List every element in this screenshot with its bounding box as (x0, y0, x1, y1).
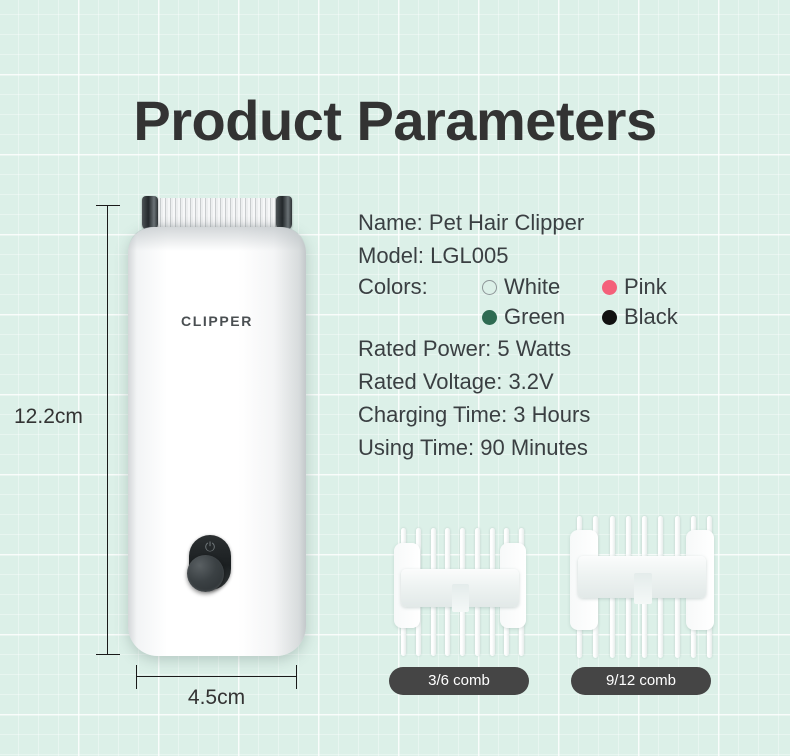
color-option-black: Black (602, 302, 722, 332)
width-dimension-line (136, 676, 297, 677)
color-swatch-grid: White Pink Green Black (482, 272, 722, 332)
spec-name: Name: Pet Hair Clipper (358, 206, 758, 239)
blade-cap-left (142, 196, 158, 230)
width-dimension-label: 4.5cm (136, 686, 297, 710)
clipper-body: CLIPPER ⏻ (128, 227, 306, 656)
color-label-green: Green (504, 302, 565, 332)
spec-using-time: Using Time: 90 Minutes (358, 431, 758, 464)
blade-teeth (153, 198, 281, 230)
color-label-pink: Pink (624, 272, 667, 302)
comb-large-notch (634, 573, 652, 604)
power-button (187, 555, 224, 592)
specification-list: Name: Pet Hair Clipper Model: LGL005 Col… (358, 206, 758, 464)
spec-charging-time: Charging Time: 3 Hours (358, 398, 758, 431)
color-option-white: White (482, 272, 602, 302)
spec-model: Model: LGL005 (358, 239, 758, 272)
color-label-black: Black (624, 302, 678, 332)
color-option-green: Green (482, 302, 602, 332)
comb-attachment-large (572, 516, 712, 658)
swatch-green-icon (482, 310, 497, 325)
blade-cap-right (276, 196, 292, 230)
power-icon: ⏻ (189, 540, 231, 553)
comb-label-large: 9/12 comb (571, 667, 711, 695)
comb-small-notch (452, 584, 469, 612)
spec-colors: Colors: White Pink Green Black (358, 272, 758, 332)
spec-rated-voltage: Rated Voltage: 3.2V (358, 365, 758, 398)
comb-label-small: 3/6 comb (389, 667, 529, 695)
comb-attachment-small (396, 528, 524, 656)
page-title: Product Parameters (0, 87, 790, 155)
color-label-white: White (504, 272, 560, 302)
clipper-brand-text: CLIPPER (128, 313, 306, 329)
product-parameters-page: Product Parameters 12.2cm 4.5cm CLIPPER … (0, 0, 790, 756)
swatch-white-icon (482, 280, 497, 295)
height-dimension-line (107, 205, 108, 655)
color-option-pink: Pink (602, 272, 722, 302)
pet-hair-clipper-image: CLIPPER ⏻ (128, 196, 306, 656)
swatch-black-icon (602, 310, 617, 325)
height-dimension-label: 12.2cm (14, 405, 83, 429)
spec-rated-power: Rated Power: 5 Watts (358, 332, 758, 365)
swatch-pink-icon (602, 280, 617, 295)
colors-label: Colors: (358, 272, 482, 302)
